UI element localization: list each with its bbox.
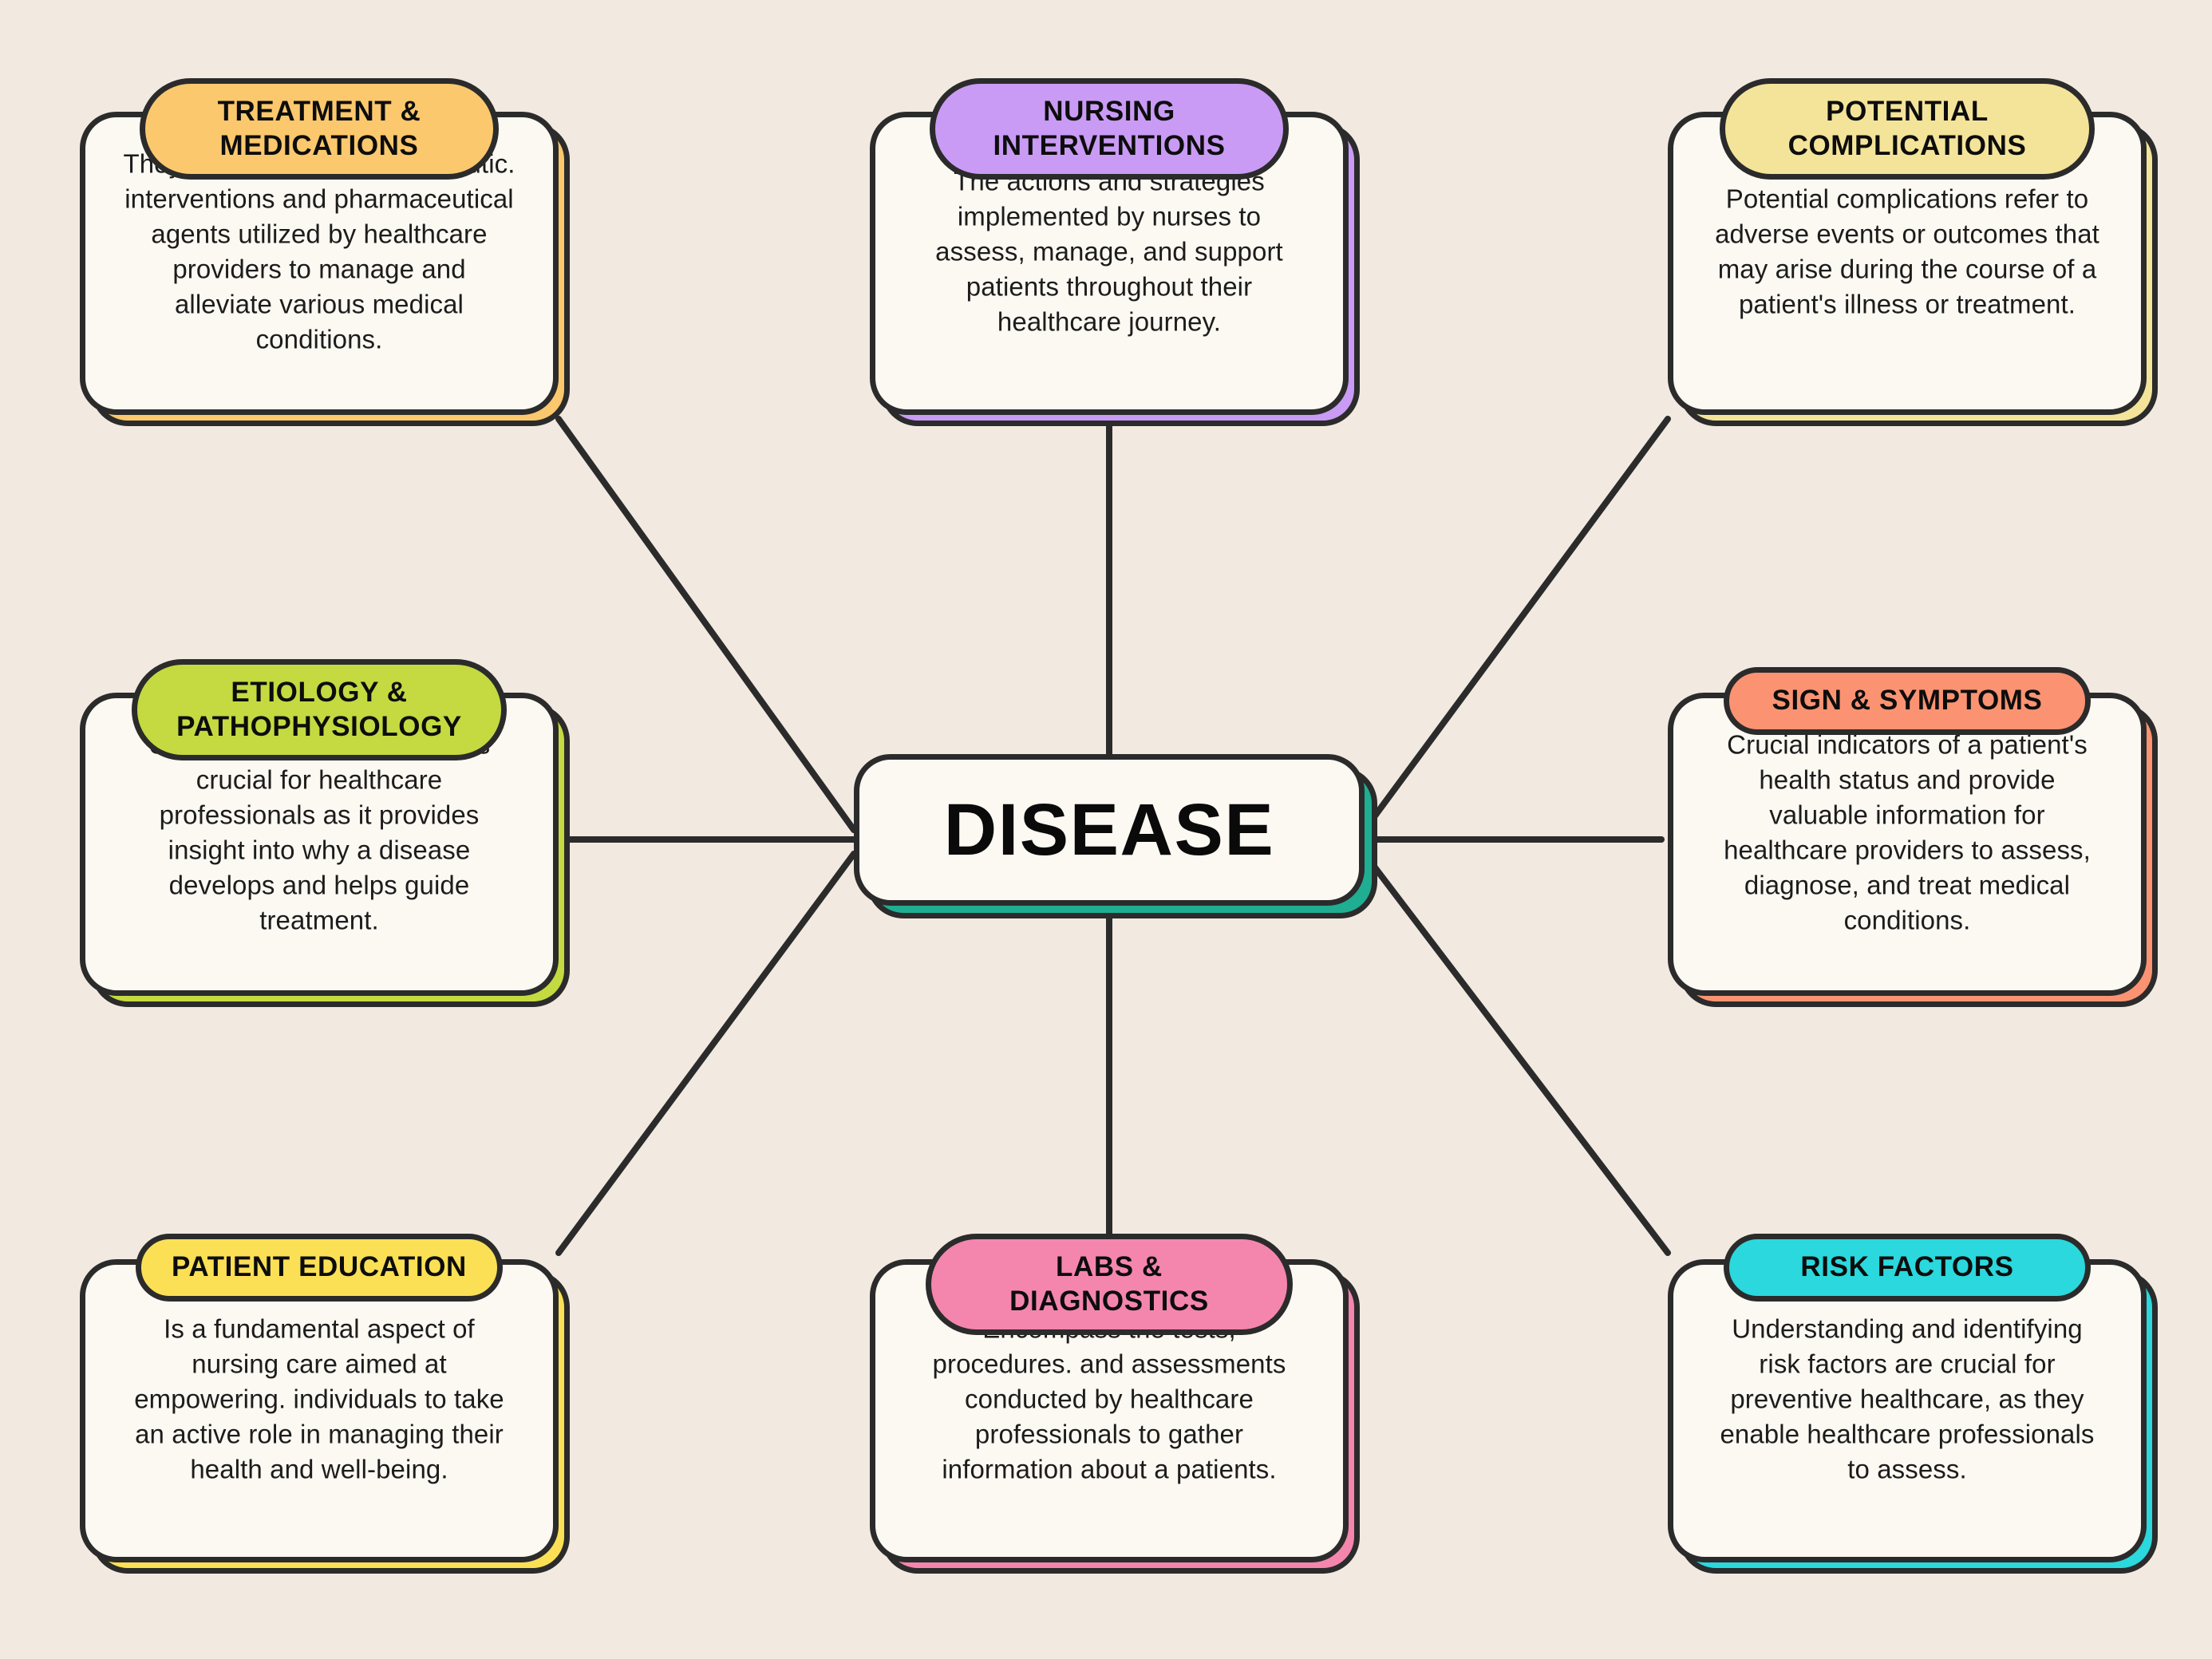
card-header-symptoms[interactable]: SIGN & SYMPTOMS xyxy=(1724,667,2091,735)
node-card-labs-diagnostics[interactable]: Encompass the tests, procedures. and ass… xyxy=(870,1259,1349,1562)
node-card-treatment-medications[interactable]: They encompass the therapeutic. interven… xyxy=(80,112,559,415)
node-card-nursing-interventions[interactable]: The actions and strategies implemented b… xyxy=(870,112,1349,415)
card-description-labs: Encompass the tests, procedures. and ass… xyxy=(913,1312,1305,1487)
connector-treatment xyxy=(559,419,854,830)
node-card-sign-symptoms[interactable]: Crucial indicators of a patient's health… xyxy=(1668,693,2147,996)
node-card-patient-education[interactable]: Is a fundamental aspect of nursing care … xyxy=(80,1259,559,1562)
card-description-complications: Potential complications refer to adverse… xyxy=(1711,182,2103,322)
card-header-patient-education[interactable]: PATIENT EDUCATION xyxy=(136,1234,503,1302)
connector-patient-edu xyxy=(559,854,854,1253)
center-node-body: DISEASE xyxy=(854,754,1365,906)
node-card-risk-factors[interactable]: Understanding and identifying risk facto… xyxy=(1668,1259,2147,1562)
card-description-patient-education: Is a fundamental aspect of nursing care … xyxy=(123,1312,515,1487)
card-header-complications[interactable]: POTENTIAL COMPLICATIONS xyxy=(1720,78,2095,180)
card-body-symptoms: Crucial indicators of a patient's health… xyxy=(1668,693,2147,996)
card-header-etiology[interactable]: ETIOLOGY & PATHOPHYSIOLOGY xyxy=(132,659,507,760)
connector-complications xyxy=(1365,419,1668,830)
center-node-label: DISEASE xyxy=(944,788,1274,872)
card-header-nursing[interactable]: NURSING INTERVENTIONS xyxy=(930,78,1289,180)
card-body-risk: Understanding and identifying risk facto… xyxy=(1668,1259,2147,1562)
node-card-etiology-pathophysiology[interactable]: Understanding the etiology is crucial fo… xyxy=(80,693,559,996)
card-description-symptoms: Crucial indicators of a patient's health… xyxy=(1711,728,2103,938)
card-header-treatment[interactable]: TREATMENT & MEDICATIONS xyxy=(140,78,499,180)
card-description-risk: Understanding and identifying risk facto… xyxy=(1711,1312,2103,1487)
card-description-nursing: The actions and strategies implemented b… xyxy=(913,164,1305,339)
center-node-disease[interactable]: DISEASE xyxy=(854,754,1365,906)
connector-risk xyxy=(1365,854,1668,1253)
node-card-potential-complications[interactable]: Potential complications refer to adverse… xyxy=(1668,112,2147,415)
mindmap-canvas: They encompass the therapeutic. interven… xyxy=(0,0,2212,1659)
card-header-labs[interactable]: LABS & DIAGNOSTICS xyxy=(926,1234,1293,1335)
card-header-risk[interactable]: RISK FACTORS xyxy=(1724,1234,2091,1302)
card-body-patient-education: Is a fundamental aspect of nursing care … xyxy=(80,1259,559,1562)
